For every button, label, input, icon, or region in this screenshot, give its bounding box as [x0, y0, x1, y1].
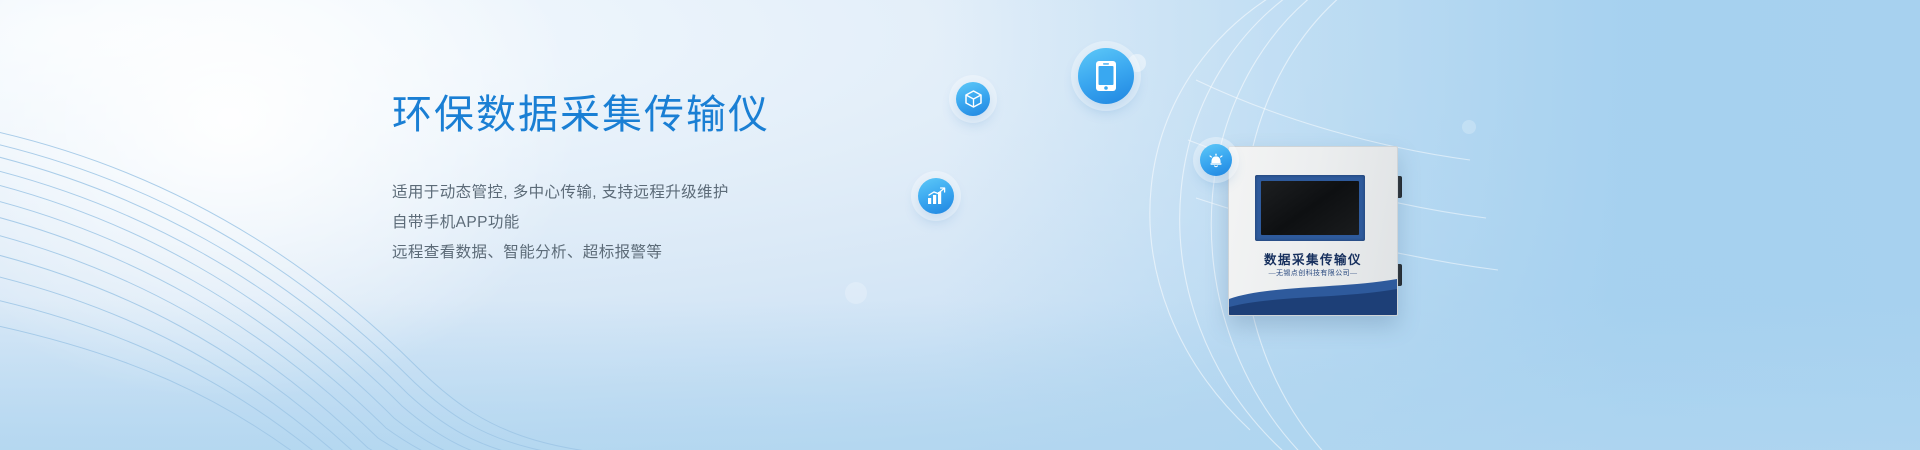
device-wave-decoration — [1229, 279, 1397, 315]
device-screen — [1261, 181, 1359, 235]
cube-icon — [956, 82, 990, 116]
page-title: 环保数据采集传输仪 — [392, 92, 912, 138]
product-hero-banner: 环保数据采集传输仪 适用于动态管控, 多中心传输, 支持远程升级维护 自带手机A… — [0, 0, 1920, 450]
feature-list: 适用于动态管控, 多中心传输, 支持远程升级维护 自带手机APP功能 远程查看数… — [392, 178, 912, 268]
device-screen-bezel — [1255, 175, 1365, 241]
product-device: 数据采集传输仪 —无锡点创科技有限公司— — [1228, 146, 1400, 314]
alarm-bell-icon — [1200, 144, 1232, 176]
device-cabinet: 数据采集传输仪 —无锡点创科技有限公司— — [1228, 146, 1398, 316]
background-bottom-gradient — [0, 300, 1920, 450]
list-item: 远程查看数据、智能分析、超标报警等 — [392, 238, 912, 268]
list-item: 自带手机APP功能 — [392, 208, 912, 238]
device-brand-title: 数据采集传输仪 — [1229, 249, 1397, 268]
list-item: 适用于动态管控, 多中心传输, 支持远程升级维护 — [392, 178, 912, 208]
device-company-name: —无锡点创科技有限公司— — [1229, 268, 1397, 278]
bar-chart-icon — [918, 178, 954, 214]
bokeh-dot — [1462, 120, 1476, 134]
mobile-phone-icon — [1078, 48, 1134, 104]
bokeh-dot — [845, 282, 867, 304]
hero-copy: 环保数据采集传输仪 适用于动态管控, 多中心传输, 支持远程升级维护 自带手机A… — [392, 92, 912, 268]
